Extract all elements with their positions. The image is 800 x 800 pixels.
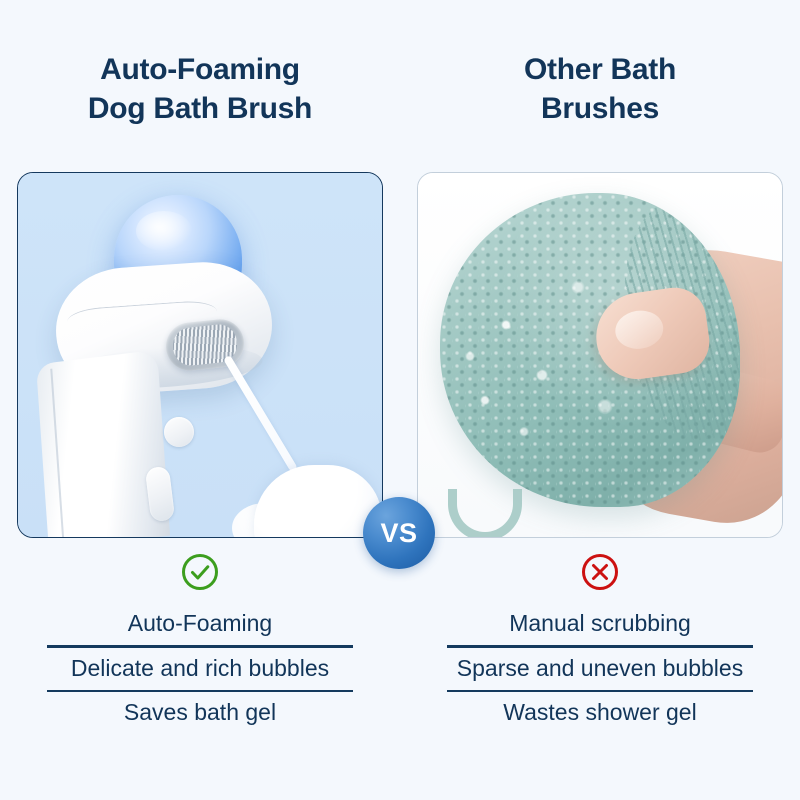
right-title-line1: Other Bath <box>524 51 676 89</box>
brush-hanging-loop <box>448 489 522 538</box>
left-feature-2: Delicate and rich bubbles <box>71 649 329 689</box>
right-feature-list: Manual scrubbing Sparse and uneven bubbl… <box>400 604 800 733</box>
right-feature-2: Sparse and uneven bubbles <box>457 649 743 689</box>
features-row: Auto-Foaming Delicate and rich bubbles S… <box>0 552 800 800</box>
comparison-page: Auto-Foaming Dog Bath Brush Other Bath B… <box>0 0 800 800</box>
left-feature-3: Saves bath gel <box>124 693 276 733</box>
auto-foaming-brush-illustration <box>18 173 382 537</box>
right-title-block: Other Bath Brushes <box>400 0 800 165</box>
handle-edge-line <box>50 369 64 538</box>
left-product-card <box>17 172 383 538</box>
right-divider-2 <box>447 690 753 693</box>
right-feature-3: Wastes shower gel <box>503 693 696 733</box>
check-circle-icon <box>180 552 220 592</box>
left-feature-1: Auto-Foaming <box>128 604 272 644</box>
right-feature-column: Manual scrubbing Sparse and uneven bubbl… <box>400 552 800 800</box>
left-divider-2 <box>47 690 353 693</box>
silicone-brush-photo <box>418 173 782 537</box>
left-feature-list: Auto-Foaming Delicate and rich bubbles S… <box>0 604 400 733</box>
titles-row: Auto-Foaming Dog Bath Brush Other Bath B… <box>0 0 800 165</box>
power-button <box>164 417 194 447</box>
x-circle-icon <box>580 552 620 592</box>
vs-badge-icon: VS <box>363 497 435 569</box>
dome-gloss-highlight <box>136 211 192 251</box>
right-feature-1: Manual scrubbing <box>509 604 691 644</box>
right-product-card <box>417 172 783 538</box>
thumb-highlight <box>613 308 666 352</box>
foam-stream <box>223 355 298 472</box>
left-title-block: Auto-Foaming Dog Bath Brush <box>0 0 400 165</box>
left-title-line2: Dog Bath Brush <box>88 90 312 128</box>
left-divider-1 <box>47 645 353 648</box>
vs-label: VS <box>380 520 417 547</box>
left-title-line1: Auto-Foaming <box>100 51 300 89</box>
right-divider-1 <box>447 645 753 648</box>
left-feature-column: Auto-Foaming Delicate and rich bubbles S… <box>0 552 400 800</box>
right-title-line2: Brushes <box>541 90 659 128</box>
product-images-row: VS <box>0 172 800 540</box>
